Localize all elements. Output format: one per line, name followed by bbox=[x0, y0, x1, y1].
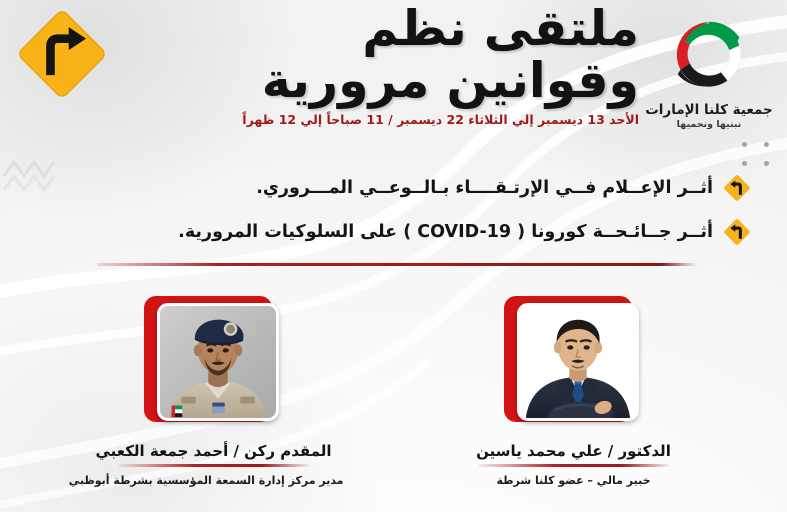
topic-text: أثــر الإعــلام فــي الإرتـقــــاء بـالـ… bbox=[256, 178, 713, 198]
speaker-card-ahmed-juma-alkaabi: المقدم ركن / أحمد جمعة الكعبي مدير مركز … bbox=[84, 296, 344, 487]
name-underline bbox=[119, 464, 309, 467]
event-date-time: الأحد 13 ديسمبر إلي الثلاثاء 22 ديسمبر /… bbox=[169, 112, 639, 127]
road-sign-right-turn-icon bbox=[14, 6, 110, 102]
road-sign-left-turn-icon bbox=[723, 218, 751, 246]
logo-tagline: نبنيها ونحميها bbox=[639, 119, 779, 130]
uae-association-ring-logo-icon bbox=[657, 8, 761, 100]
title-line-2: وقوانين مرورية bbox=[169, 56, 639, 106]
speaker-name: المقدم ركن / أحمد جمعة الكعبي bbox=[84, 442, 344, 460]
topics-list: أثــر الإعــلام فــي الإرتـقــــاء بـالـ… bbox=[35, 166, 751, 254]
speaker-role: خبير مالي – عضو كلنا شرطة bbox=[444, 474, 704, 487]
dot bbox=[764, 142, 769, 147]
speaker-name: الدكتور / علي محمد ياسين bbox=[444, 442, 704, 460]
organization-logo-block: جمعية كلنا الإمارات نبنيها ونحميها bbox=[639, 6, 779, 130]
speaker-card-ali-mohammed-yassin: الدكتور / علي محمد ياسين خبير مالي – عضو… bbox=[444, 296, 704, 487]
section-divider bbox=[97, 263, 697, 266]
speakers-section: المقدم ركن / أحمد جمعة الكعبي مدير مركز … bbox=[0, 296, 787, 487]
topic-text: أثــر جــائـحــة كورونا ( COVID-19 ) على… bbox=[178, 222, 713, 242]
speaker-role: مدير مركز إدارة السمعة المؤسسية بشرطة أب… bbox=[84, 474, 344, 487]
speaker-photo-police-officer-portrait bbox=[157, 303, 279, 421]
road-sign-left-turn-icon bbox=[723, 174, 751, 202]
speaker-photo-wrap bbox=[504, 296, 644, 428]
topic-item: أثــر الإعــلام فــي الإرتـقــــاء بـالـ… bbox=[35, 166, 751, 210]
topic-item: أثــر جــائـحــة كورونا ( COVID-19 ) على… bbox=[35, 210, 751, 254]
name-underline bbox=[479, 464, 669, 467]
poster-title-block: ملتقى نظم وقوانين مرورية الأحد 13 ديسمبر… bbox=[169, 4, 639, 127]
dot bbox=[742, 142, 747, 147]
event-poster: ملتقى نظم وقوانين مرورية الأحد 13 ديسمبر… bbox=[0, 0, 787, 512]
speaker-photo-man-in-suit-portrait bbox=[517, 303, 639, 421]
logo-organization-name: جمعية كلنا الإمارات bbox=[639, 102, 779, 118]
dot bbox=[764, 161, 769, 166]
speaker-photo-wrap bbox=[144, 296, 284, 428]
title-line-1: ملتقى نظم bbox=[169, 4, 639, 54]
